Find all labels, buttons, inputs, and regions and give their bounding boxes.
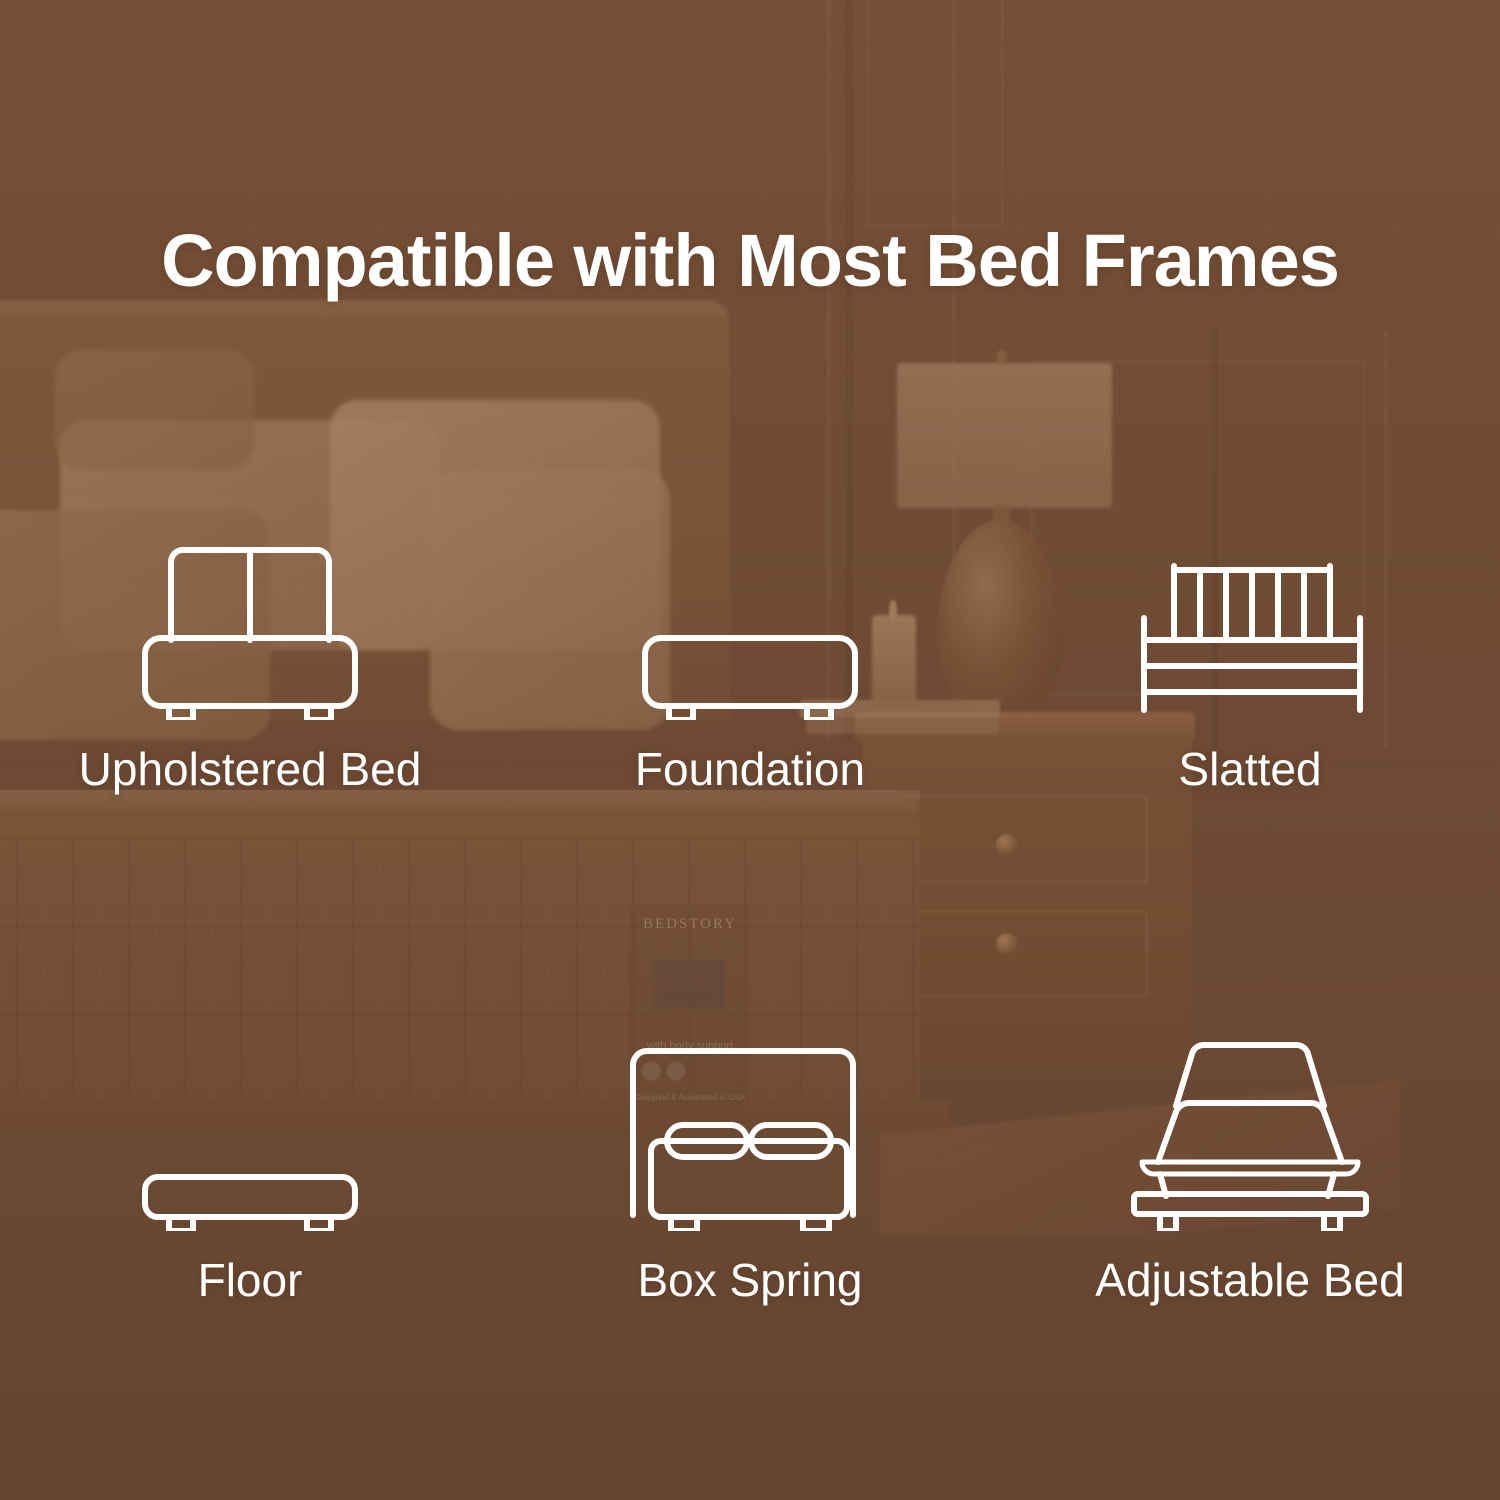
slatted-frame-icon <box>1130 470 1370 720</box>
frame-item-adjustable-bed[interactable]: Adjustable Bed <box>1000 981 1500 1306</box>
promo-image: BEDSTORY with body support Designed & As… <box>0 0 1500 1500</box>
frame-item-slatted[interactable]: Slatted <box>1000 470 1500 795</box>
floor-icon <box>135 981 365 1231</box>
frame-item-floor[interactable]: Floor <box>0 981 500 1306</box>
upholstered-bed-icon <box>135 470 365 720</box>
frame-label: Slatted <box>1178 744 1321 795</box>
box-spring-icon <box>625 981 875 1231</box>
frame-row: Upholstered Bed Foundation <box>0 470 1500 795</box>
adjustable-bed-icon <box>1120 981 1380 1231</box>
frame-grid: Upholstered Bed Foundation <box>0 470 1500 1305</box>
content-layer: Compatible with Most Bed Frames Upho <box>0 0 1500 1500</box>
frame-item-foundation[interactable]: Foundation <box>500 470 1000 795</box>
frame-label: Adjustable Bed <box>1095 1255 1404 1306</box>
frame-label: Foundation <box>635 744 865 795</box>
frame-label: Floor <box>198 1255 303 1306</box>
frame-label: Upholstered Bed <box>79 744 422 795</box>
frame-row: Floor Box Spring <box>0 981 1500 1306</box>
frame-label: Box Spring <box>637 1255 862 1306</box>
foundation-icon <box>635 470 865 720</box>
frame-item-upholstered-bed[interactable]: Upholstered Bed <box>0 470 500 795</box>
frame-item-box-spring[interactable]: Box Spring <box>500 981 1000 1306</box>
page-title: Compatible with Most Bed Frames <box>0 218 1500 303</box>
